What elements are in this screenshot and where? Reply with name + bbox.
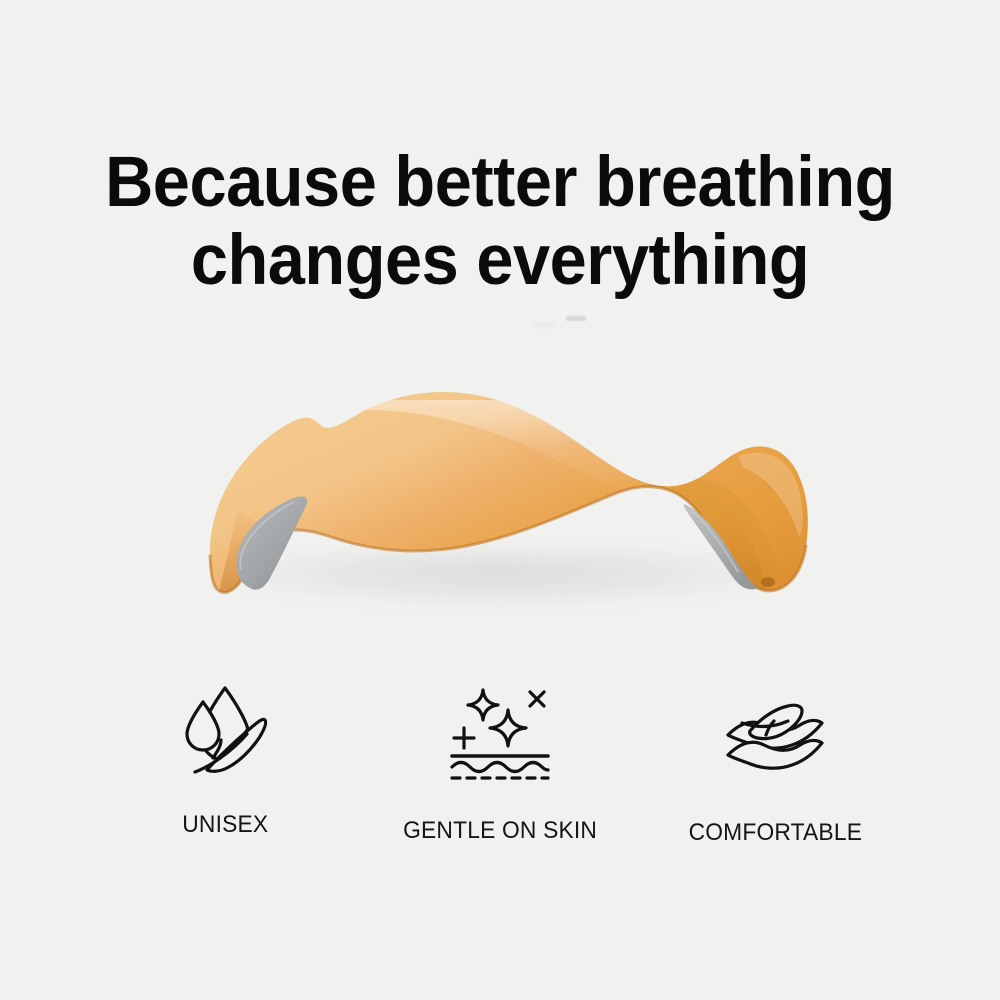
feather-fabric-layers-icon	[723, 686, 827, 790]
feature-label-gentle-on-skin: GENTLE ON SKIN	[403, 818, 597, 844]
background-smudge-artifact	[533, 322, 555, 328]
page-title: Because better breathing changes everyth…	[30, 144, 970, 300]
background-speck-artifact	[566, 316, 586, 321]
droplet-feather-icon	[173, 676, 277, 780]
headline-line-2: changes everything	[30, 222, 970, 300]
feature-item-comfortable: COMFORTABLE	[646, 676, 904, 846]
feature-item-unisex: UNISEX	[96, 676, 354, 838]
product-body	[210, 392, 808, 596]
product-tip-notch	[761, 577, 775, 587]
feature-row: UNISEX	[96, 676, 904, 866]
product-image	[178, 360, 828, 610]
feature-item-gentle-on-skin: GENTLE ON SKIN	[371, 676, 629, 844]
sparkle-skin-layers-icon	[448, 680, 552, 784]
headline-line-1: Because better breathing	[30, 144, 970, 222]
product-feature-card: Because better breathing changes everyth…	[0, 0, 1000, 1000]
feature-label-unisex: UNISEX	[182, 812, 268, 838]
feature-label-comfortable: COMFORTABLE	[688, 820, 862, 846]
